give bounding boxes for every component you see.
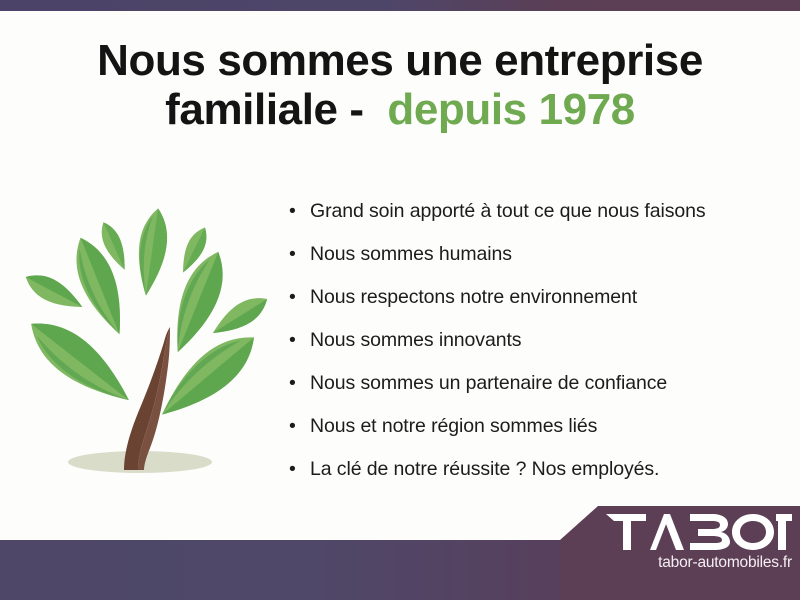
brand-website-url: tabor-automobiles.fr (560, 554, 800, 572)
leaf-far-left (21, 267, 88, 316)
list-item-label: Nous respectons notre environnement (310, 286, 637, 308)
tabor-wordmark (606, 514, 792, 550)
bullet-dot-icon: • (289, 448, 296, 491)
title-line-1: Nous sommes une entreprise (0, 36, 800, 85)
list-item: • Nous et notre région sommes liés (286, 405, 786, 448)
list-item-label: Grand soin apporté à tout ce que nous fa… (310, 200, 706, 222)
page-title: Nous sommes une entreprise familiale - d… (0, 36, 800, 135)
list-item: • Nous sommes humains (286, 233, 786, 276)
list-item: • La clé de notre réussite ? Nos employé… (286, 448, 786, 491)
list-item-label: Nous et notre région sommes liés (310, 415, 597, 437)
bullet-dot-icon: • (289, 319, 296, 362)
title-line-2-accent: depuis 1978 (387, 85, 635, 134)
bullet-dot-icon: • (289, 276, 296, 319)
leaf-upper-left (65, 232, 135, 341)
list-item-label: Nous sommes innovants (310, 329, 521, 351)
brand-logo-panel: tabor-automobiles.fr (560, 506, 800, 600)
list-item: • Grand soin apporté à tout ce que nous … (286, 190, 786, 233)
leaf-lower-left (19, 308, 141, 415)
slide-canvas: Nous sommes une entreprise familiale - d… (0, 0, 800, 600)
bullet-dot-icon: • (289, 362, 296, 405)
bullet-dot-icon: • (289, 405, 296, 448)
list-item-label: La clé de notre réussite ? Nos employés. (310, 458, 659, 480)
top-accent-bar (0, 0, 800, 11)
title-line-2: familiale - depuis 1978 (0, 85, 800, 134)
tabor-logotype-icon (606, 514, 792, 550)
title-line-2-plain: familiale - (165, 85, 364, 134)
bullet-dot-icon: • (289, 190, 296, 233)
value-bullet-list: • Grand soin apporté à tout ce que nous … (286, 190, 786, 491)
tree-icon (12, 186, 278, 482)
leaf-upper-right (162, 245, 235, 358)
bullet-dot-icon: • (289, 233, 296, 276)
list-item: • Nous sommes innovants (286, 319, 786, 362)
list-item-label: Nous sommes un partenaire de confiance (310, 372, 667, 394)
list-item: • Nous sommes un partenaire de confiance (286, 362, 786, 405)
list-item-label: Nous sommes humains (310, 243, 512, 265)
list-item: • Nous respectons notre environnement (286, 276, 786, 319)
leaf-top-center (132, 207, 171, 298)
tree-illustration (12, 186, 278, 482)
